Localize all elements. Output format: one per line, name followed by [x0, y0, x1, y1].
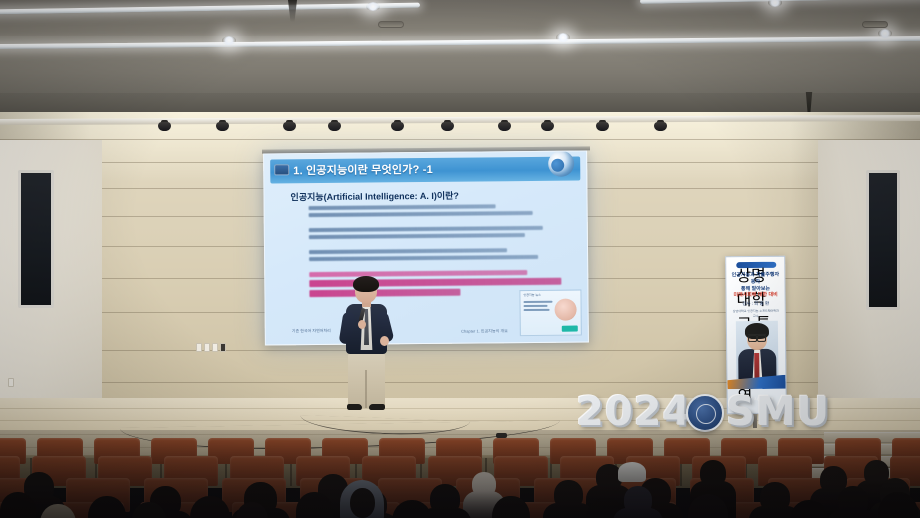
slide-title-bar: 1. 인공지능이란 무엇인가? -1 Welcome to the AI Wor… [270, 157, 580, 184]
audience-member-body [827, 510, 880, 518]
presenter-leg-split [365, 370, 367, 408]
wall-slat-line [0, 139, 920, 140]
left-acoustic-panel [18, 170, 54, 308]
projection-screen: 1. 인공지능이란 무엇인가? -1 Welcome to the AI Wor… [263, 150, 589, 345]
banner-speaker-photo [736, 321, 779, 379]
wall-outlet-group [196, 343, 226, 352]
ceiling-lamp-icon [878, 29, 892, 38]
auditorium-scene: 1. 인공지능이란 무엇인가? -1 Welcome to the AI Wor… [0, 0, 920, 518]
banner-photo-tie [754, 353, 759, 379]
slide-title: 1. 인공지능이란 무엇인가? -1 [293, 161, 433, 178]
presenter-shoe-right [369, 404, 385, 410]
slide-inset-text-lines [524, 301, 556, 313]
presenter-hand-left [358, 320, 366, 329]
ceiling-lamp-icon [366, 2, 380, 11]
slide-inset-portrait [554, 299, 576, 321]
right-acoustic-panel [866, 170, 900, 310]
presenter-hand-right [380, 336, 389, 346]
smu-emblem-icon [686, 394, 724, 432]
slide-inset-caption: 인공지능 뉴스 [523, 293, 540, 297]
stage-spotlight-icon [327, 120, 342, 133]
ceiling-vent-icon [378, 21, 404, 28]
stage-spotlight-icon [440, 120, 455, 133]
presenter [336, 278, 398, 408]
stage-spotlight-icon [653, 120, 668, 133]
ceiling-vent-icon [862, 21, 888, 28]
slide-inset-button [562, 326, 578, 332]
audience-hoodie-face [350, 488, 375, 518]
slide-inset-card: 인공지능 뉴스 [519, 290, 581, 337]
banner-pill-label: 상명대학교 특별초청강연 [736, 262, 776, 268]
banner-headline: 인공지능과 자율주행자동차 통해 알아보는 [731, 272, 779, 293]
stage-signage: 2024 SMU [576, 392, 838, 434]
banner-headline-line1: 인공지능과 자율주행자동차 [732, 272, 779, 285]
stage-spotlight-icon [215, 120, 230, 133]
ceiling-lamp-icon [222, 36, 236, 45]
slide-subtitle: 인공지능(Artificial Intelligence: A. I)이란? [290, 189, 458, 204]
presenter-shoe-left [347, 404, 362, 410]
slide-surface: 1. 인공지능이란 무엇인가? -1 Welcome to the AI Wor… [263, 150, 589, 345]
stage-spotlight-icon [157, 120, 172, 133]
stage-spotlight-icon [540, 120, 555, 133]
glasses-icon [748, 334, 766, 339]
ceiling-lamp-icon [556, 33, 570, 42]
audience-area [0, 430, 920, 518]
stage-spotlight-icon [390, 120, 405, 133]
wall-outlet-icon [8, 378, 14, 387]
audience-member-head [878, 492, 918, 518]
presenter-hair [353, 276, 379, 292]
slide-micro-header: Welcome to the AI World [480, 150, 536, 152]
audience-member-body [613, 508, 662, 518]
slide-sphere-logo-icon [548, 151, 574, 177]
slide-footer-left: 기존 한국어 자연어처리 [292, 328, 331, 334]
slide-chapter-badge-icon [274, 164, 289, 175]
banner-headline-highlight: 미래사회에 대한 대비 [732, 291, 780, 299]
banner-speaker-name: 강사 : 최 종 환 [732, 301, 780, 308]
audience-white-cap [618, 462, 646, 482]
slide-footer-right: Chapter 1. 인공지능의 개요 [461, 328, 508, 334]
signage-letters: SMU [726, 392, 830, 432]
signage-year: 2024 [576, 392, 691, 432]
stage-spotlight-icon [497, 120, 512, 133]
stage-spotlight-icon [595, 120, 610, 133]
stage-spotlight-icon [282, 120, 297, 133]
banner-speaker-affiliation: 상명대학교 인공지능·소프트웨어학과 교수 [732, 309, 780, 319]
